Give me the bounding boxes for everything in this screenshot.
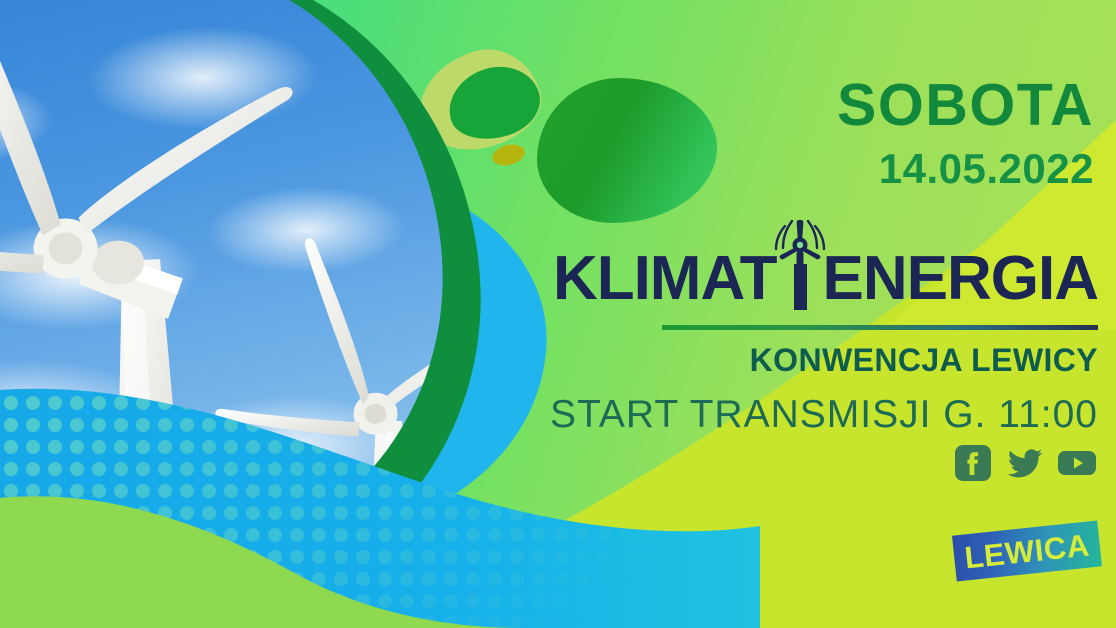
title-part-1: KLIMAT bbox=[553, 248, 777, 310]
subtitle: KONWENCJA LEWICY bbox=[750, 341, 1098, 379]
event-date: 14.05.2022 bbox=[879, 148, 1094, 190]
wind-turbine-icon bbox=[771, 214, 829, 280]
title-divider bbox=[662, 325, 1098, 330]
lewica-logo-text: LEWICA bbox=[963, 529, 1091, 573]
main-title: KLIMAT ENERGIA bbox=[553, 244, 1098, 310]
social-links bbox=[954, 444, 1096, 482]
day-label: SOBOTA bbox=[837, 76, 1094, 135]
stream-info: START TRANSMISJI G. 11:00 bbox=[550, 392, 1098, 439]
twitter-icon[interactable] bbox=[1006, 444, 1044, 482]
title-conjunction-i bbox=[777, 244, 823, 310]
title-part-2: ENERGIA bbox=[823, 248, 1098, 310]
facebook-icon[interactable] bbox=[954, 444, 992, 482]
poster-canvas: SOBOTA 14.05.2022 KLIMAT bbox=[0, 0, 1116, 628]
youtube-icon[interactable] bbox=[1058, 444, 1096, 482]
